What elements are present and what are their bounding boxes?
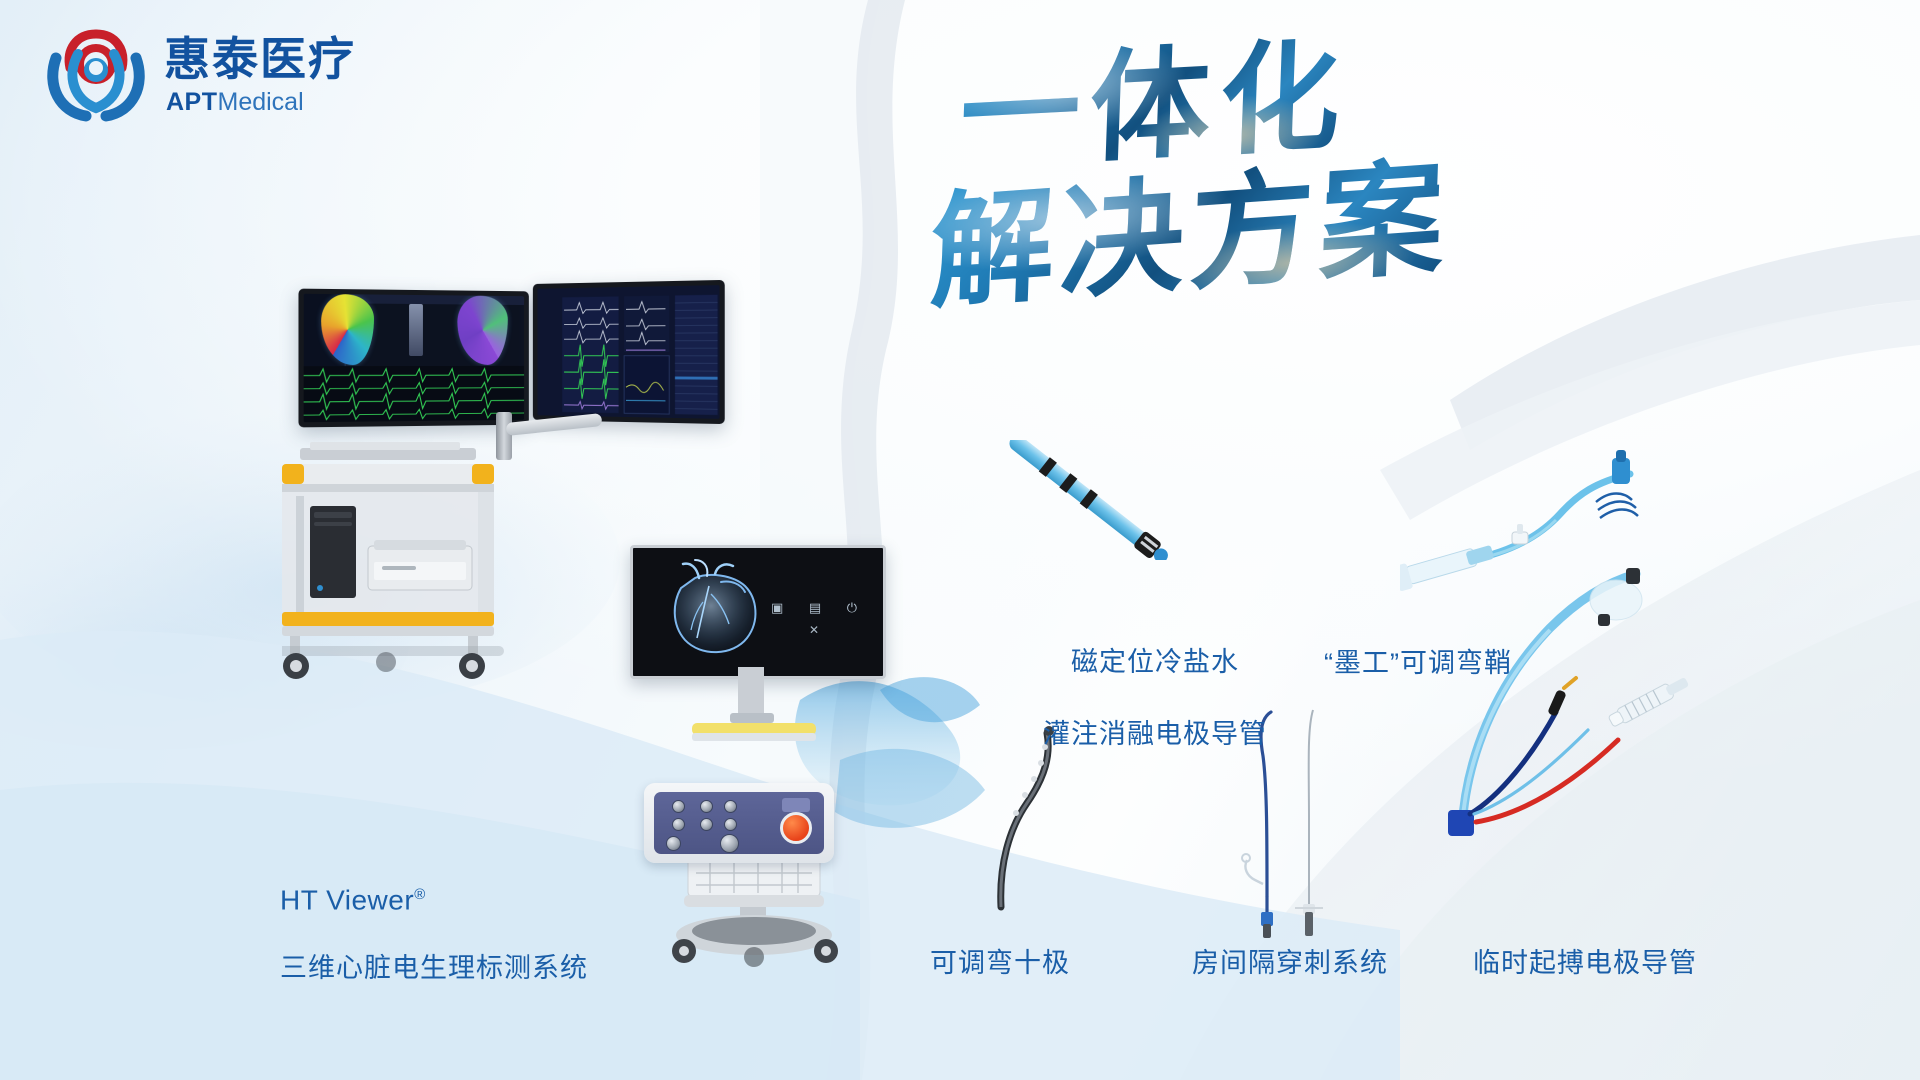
caption-transseptal: 房间隔穿刺系统 [1170,945,1410,981]
caption-ablation-catheter-l2: 灌注消融电极导管 [955,716,1355,752]
workstation-cart-body [282,440,582,680]
mapping-monitor [298,289,528,428]
heart-illustration-icon [647,558,777,662]
recording-monitor [533,280,725,424]
ground-port[interactable] [666,836,681,851]
generator-control-box [644,783,834,863]
port-3[interactable] [700,800,713,813]
status-plate [782,798,810,812]
caption-decapolar: 可调弯十极 [880,945,1120,981]
recording-monitor-screen [537,285,719,419]
catheter-render [409,304,423,356]
coaxial-port[interactable] [720,834,739,853]
mapping-monitor-screen [304,294,524,422]
banner-canvas: 惠泰医疗 APTMedical 一体化 解决方案 [0,0,1920,1080]
heart-map-rainbow [321,294,374,365]
port-4[interactable] [700,818,713,831]
connector-panel [654,792,824,854]
headline: 一体化 解决方案 [960,40,1640,350]
caption-ht-viewer: HT Viewer® 三维心脏电生理标测系统 [280,810,610,1019]
screen-icon-group[interactable]: ▣ ▤ ⏻ ✕ [771,600,857,637]
interlocking-rings-logo [42,24,150,122]
heart-display-screen: ▣ ▤ ⏻ ✕ [630,545,886,679]
port-1[interactable] [672,800,685,813]
irrigated-ablation-catheter-illustration [980,440,1200,560]
caption-steerable-sheath: “墨工”可调弯鞘 [1268,645,1568,681]
temporary-pacing-catheter-illustration [1440,560,1740,840]
new-case-icon[interactable]: ▣ [771,600,783,615]
brand-name-en: APTMedical [166,90,304,115]
port-2[interactable] [672,818,685,831]
registered-mark: ® [414,886,426,903]
port-6[interactable] [724,818,737,831]
caption-ht-viewer-en: HT Viewer® [280,844,610,917]
open-folder-icon[interactable]: ▤ [809,600,821,615]
display-cart: ▣ ▤ ⏻ ✕ [630,545,910,965]
headline-line2: 解决方案 [928,150,1452,323]
brand-logo: 惠泰医疗 APTMedical [42,18,382,128]
caption-pacing-catheter: 临时起搏电极导管 [1455,945,1715,981]
brand-name-en-bold: APT [166,88,218,116]
heart-map-violet [457,296,507,365]
emergency-stop-button[interactable] [780,812,812,844]
mapping-ecg-panel [304,365,524,422]
mapping-icon[interactable]: ✕ [809,623,819,637]
caption-ht-viewer-cn: 三维心脏电生理标测系统 [280,951,610,985]
ht-viewer-name: HT Viewer [280,884,414,915]
port-5[interactable] [724,800,737,813]
brand-name-cn: 惠泰医疗 [164,36,356,82]
heart-map-row [304,294,524,366]
caption-ablation-catheter: 磁定位冷盐水 灌注消融电极导管 [955,608,1355,788]
brand-name-en-light: Medical [218,88,304,116]
power-icon[interactable]: ⏻ [847,600,857,615]
